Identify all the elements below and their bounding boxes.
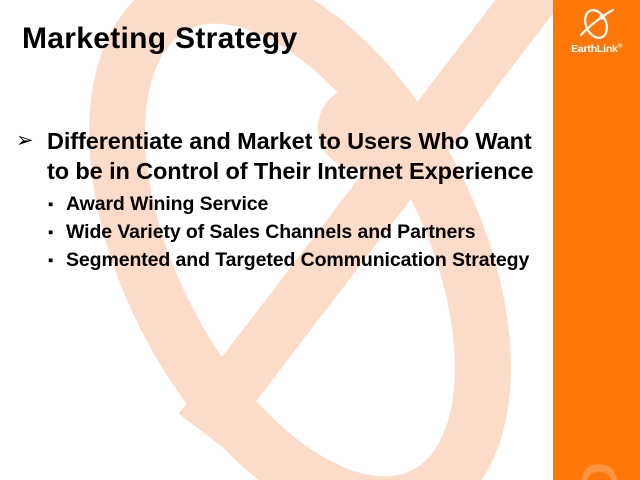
square-bullet-icon: ▪ [48,192,53,217]
bullet-level1: ➢ Differentiate and Market to Users Who … [14,126,544,186]
page-title: Marketing Strategy [22,22,297,56]
bullet-level1-text: Differentiate and Market to Users Who Wa… [47,128,533,184]
bullet-sublist: ▪ Award Wining Service ▪ Wide Variety of… [14,192,544,273]
bullet-level2: ▪ Award Wining Service [48,192,544,217]
bullet-level2: ▪ Wide Variety of Sales Channels and Par… [48,220,544,245]
square-bullet-icon: ▪ [48,248,53,273]
square-bullet-icon: ▪ [48,220,53,245]
slide-content: Marketing Strategy ➢ Differentiate and M… [0,0,553,480]
brand-band: GET LINKED EarthLink® [553,0,640,480]
arrow-bullet-icon: ➢ [16,126,34,156]
bullet-level2-text: Segmented and Targeted Communication Str… [66,249,529,271]
earthlink-logo: EarthLink® [553,6,640,64]
bullet-level2: ▪ Segmented and Targeted Communication S… [48,248,544,273]
bullet-list: ➢ Differentiate and Market to Users Who … [14,126,544,276]
earthlink-wordmark: EarthLink® [553,43,640,55]
bullet-level2-text: Wide Variety of Sales Channels and Partn… [66,221,476,243]
earthlink-planet-icon [577,6,617,42]
bullet-level2-text: Award Wining Service [66,193,268,215]
presentation-slide: Marketing Strategy ➢ Differentiate and M… [0,0,640,480]
brand-tagline: GET LINKED [565,5,635,480]
